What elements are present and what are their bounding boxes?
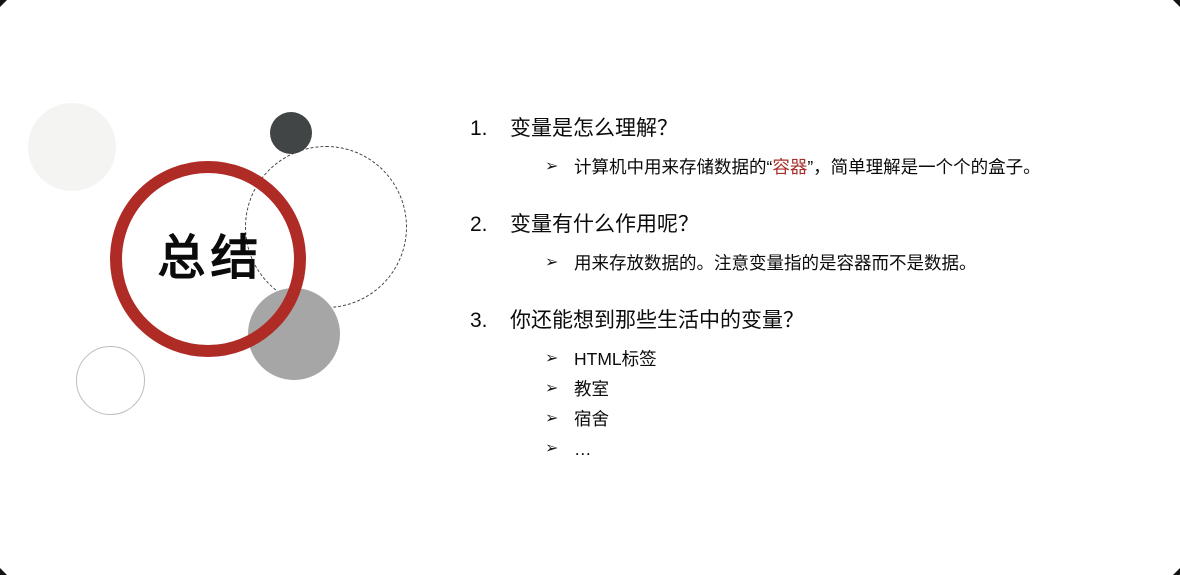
answer-item: ➢ 用来存放数据的。注意变量指的是容器而不是数据。 (470, 248, 1160, 278)
question-block-1: 1. 变量是怎么理解？ ➢ 计算机中用来存储数据的“容器”，简单理解是一个个的盒… (470, 112, 1160, 182)
question-block-3: 3. 你还能想到那些生活中的变量？ ➢ HTML标签 ➢ 教室 ➢ 宿舍 ➢ (470, 304, 1160, 464)
corner-tick-bottom-right (1173, 568, 1180, 575)
answer-text: HTML标签 (574, 344, 657, 374)
answer-text: 教室 (574, 374, 609, 404)
answer-keyword: 容器 (772, 157, 807, 177)
answer-item: ➢ 教室 (470, 374, 1160, 404)
question-row-2: 2. 变量有什么作用呢？ (470, 208, 1160, 242)
question-text-1: 变量是怎么理解？ (510, 112, 678, 146)
answer-text: 宿舍 (574, 404, 609, 434)
spacer-2 (470, 282, 1160, 304)
answer-text: 用来存放数据的。注意变量指的是容器而不是数据。 (574, 248, 977, 278)
answer-item: ➢ 计算机中用来存储数据的“容器”，简单理解是一个个的盒子。 (470, 152, 1160, 182)
arrow-bullet-icon: ➢ (545, 434, 574, 464)
arrow-bullet-icon: ➢ (545, 404, 574, 434)
arrow-bullet-icon: ➢ (545, 152, 574, 182)
answer-item: ➢ … (470, 434, 1160, 464)
decorative-graphic: 总结 (0, 0, 470, 575)
question-number-1: 1. (470, 112, 510, 146)
answer-text-pre: 计算机中用来存储数据的“ (574, 157, 772, 177)
question-text-2: 变量有什么作用呢？ (510, 208, 699, 242)
answer-text-post: ”，简单理解是一个个的盒子。 (807, 157, 1040, 177)
arrow-bullet-icon: ➢ (545, 248, 574, 278)
answer-text: … (574, 434, 592, 464)
question-text-3: 你还能想到那些生活中的变量？ (510, 304, 804, 338)
corner-tick-top-right (1173, 0, 1180, 7)
answer-list-2: ➢ 用来存放数据的。注意变量指的是容器而不是数据。 (470, 248, 1160, 278)
answer-item: ➢ 宿舍 (470, 404, 1160, 434)
question-block-2: 2. 变量有什么作用呢？ ➢ 用来存放数据的。注意变量指的是容器而不是数据。 (470, 208, 1160, 278)
pale-circle-shape (28, 103, 116, 191)
slide-canvas: 总结 1. 变量是怎么理解？ ➢ 计算机中用来存储数据的“容器”，简单理解是一个… (0, 0, 1180, 575)
summary-title-badge: 总结 (110, 161, 306, 357)
answer-item: ➢ HTML标签 (470, 344, 1160, 374)
question-row-1: 1. 变量是怎么理解？ (470, 112, 1160, 146)
answer-text: 计算机中用来存储数据的“容器”，简单理解是一个个的盒子。 (574, 152, 1041, 182)
question-number-2: 2. (470, 208, 510, 242)
arrow-bullet-icon: ➢ (545, 374, 574, 404)
question-number-3: 3. (470, 304, 510, 338)
arrow-bullet-icon: ➢ (545, 344, 574, 374)
answer-list-3: ➢ HTML标签 ➢ 教室 ➢ 宿舍 ➢ … (470, 344, 1160, 464)
question-list: 1. 变量是怎么理解？ ➢ 计算机中用来存储数据的“容器”，简单理解是一个个的盒… (470, 112, 1160, 468)
question-row-3: 3. 你还能想到那些生活中的变量？ (470, 304, 1160, 338)
answer-list-1: ➢ 计算机中用来存储数据的“容器”，简单理解是一个个的盒子。 (470, 152, 1160, 182)
spacer-1 (470, 186, 1160, 208)
